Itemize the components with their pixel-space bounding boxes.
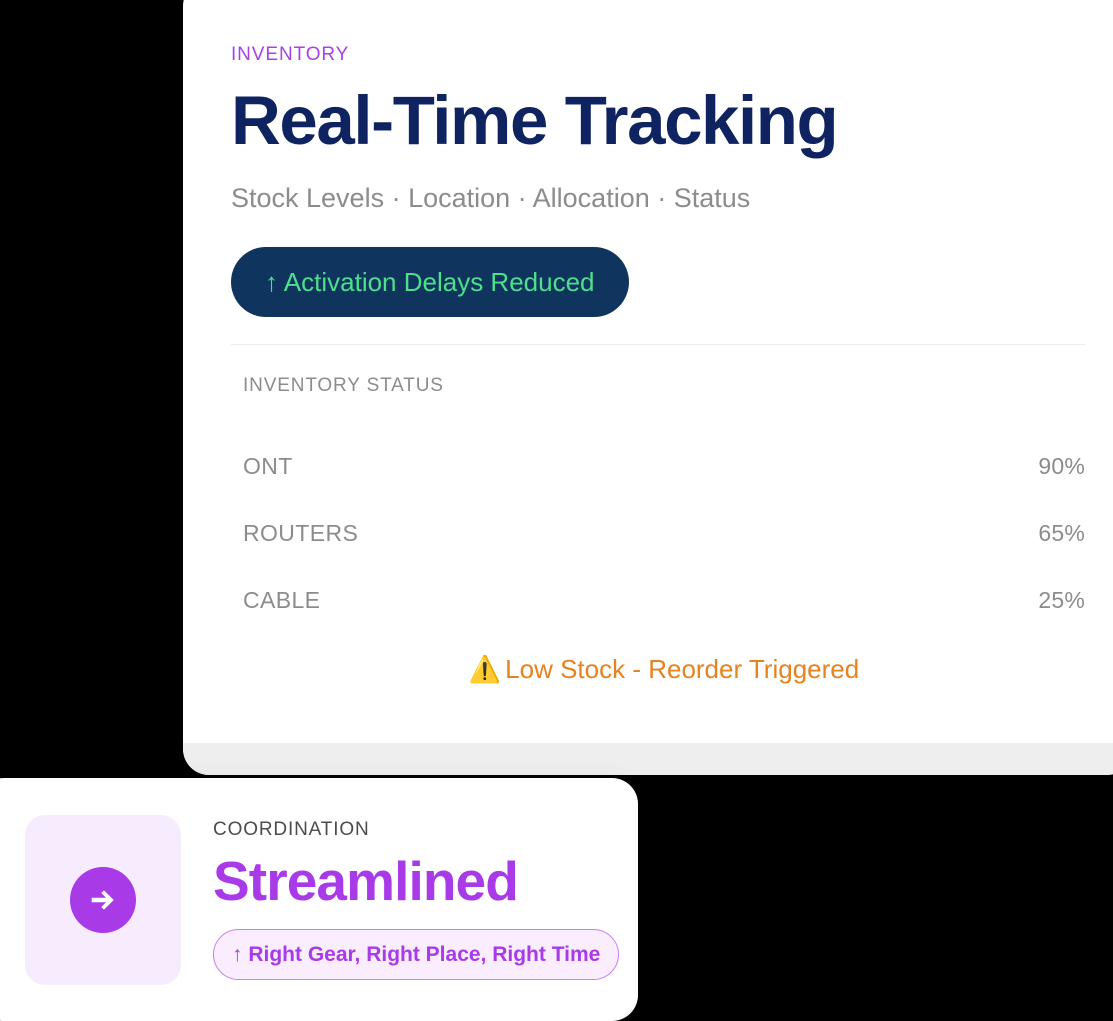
page-title: Real-Time Tracking xyxy=(231,86,1085,156)
right-gear-badge[interactable]: ↑ Right Gear, Right Place, Right Time xyxy=(213,929,619,980)
inventory-card-inner: INVENTORY Real-Time Tracking Stock Level… xyxy=(183,0,1113,775)
table-row: ONT 90% xyxy=(243,453,1085,480)
status-item-value: 25% xyxy=(1038,587,1085,614)
coordination-title: Streamlined xyxy=(213,853,638,911)
inventory-eyebrow-label: INVENTORY xyxy=(231,45,1085,66)
inventory-status-heading: INVENTORY STATUS xyxy=(243,375,1085,397)
inventory-status-section: INVENTORY STATUS ONT 90% ROUTERS 65% CAB… xyxy=(183,345,1113,685)
coordination-icon-tile xyxy=(25,815,181,985)
inventory-card-header: INVENTORY Real-Time Tracking Stock Level… xyxy=(183,0,1113,345)
status-item-value: 65% xyxy=(1038,520,1085,547)
table-row: CABLE 25% xyxy=(243,587,1085,614)
status-item-label: CABLE xyxy=(243,587,320,614)
coordination-eyebrow-label: COORDINATION xyxy=(213,819,638,841)
coordination-card-body: COORDINATION Streamlined ↑ Right Gear, R… xyxy=(213,819,638,980)
activation-delays-badge[interactable]: ↑ Activation Delays Reduced xyxy=(231,247,629,317)
low-stock-alert: ⚠️Low Stock - Reorder Triggered xyxy=(243,654,1085,685)
table-row: ROUTERS 65% xyxy=(243,520,1085,547)
low-stock-alert-text: Low Stock - Reorder Triggered xyxy=(505,654,859,684)
inventory-subtitle: Stock Levels · Location · Allocation · S… xyxy=(231,182,1085,214)
inventory-card: INVENTORY Real-Time Tracking Stock Level… xyxy=(183,0,1113,775)
card-footer-strip xyxy=(183,743,1113,775)
status-item-label: ONT xyxy=(243,453,293,480)
arrow-right-icon xyxy=(70,867,136,933)
status-item-value: 90% xyxy=(1038,453,1085,480)
warning-icon: ⚠️ xyxy=(469,654,501,684)
coordination-card: COORDINATION Streamlined ↑ Right Gear, R… xyxy=(0,778,638,1021)
status-item-label: ROUTERS xyxy=(243,520,358,547)
